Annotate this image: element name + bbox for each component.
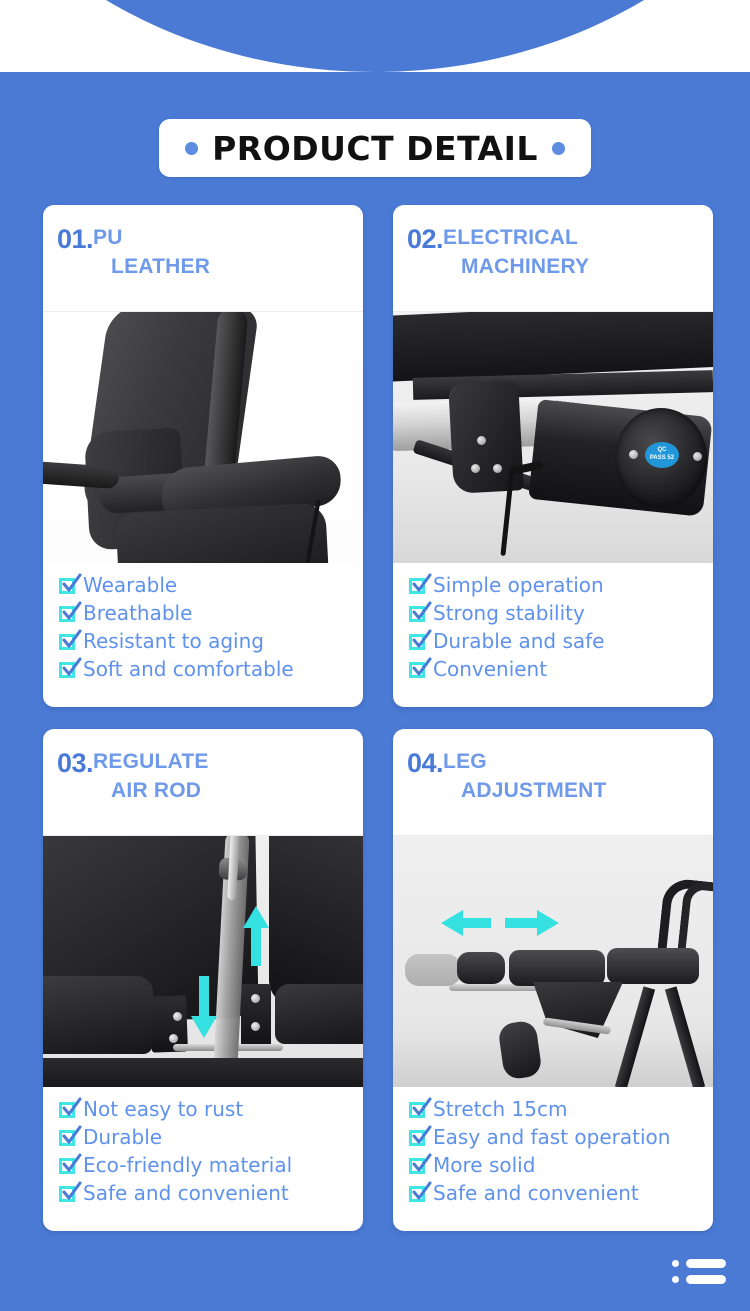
list-item: More solid	[409, 1151, 713, 1179]
detail-card-regulate-air-rod[interactable]: 03. REGULATE AIR ROD	[43, 729, 363, 1231]
feature-list: Stretch 15cm Easy and fast operation Mor…	[393, 1087, 713, 1231]
feature-label: Durable and safe	[433, 631, 604, 651]
card-title-line2: MACHINERY	[443, 253, 589, 282]
list-bullet-icon	[672, 1260, 679, 1267]
check-icon	[59, 1101, 76, 1118]
list-item: Safe and convenient	[409, 1179, 713, 1207]
card-title-line2: ADJUSTMENT	[443, 777, 607, 806]
top-banner	[0, 0, 750, 72]
arrow-down-icon	[189, 976, 219, 1043]
list-item: Easy and fast operation	[409, 1123, 713, 1151]
feature-list: Simple operation Strong stability Durabl…	[393, 563, 713, 707]
feature-label: Stretch 15cm	[433, 1099, 567, 1119]
card-header: 01. PU LEATHER	[43, 205, 363, 311]
feature-list: Wearable Breathable Resistant to aging	[43, 563, 363, 707]
list-bar-icon	[686, 1259, 726, 1268]
list-item: Eco-friendly material	[59, 1151, 363, 1179]
check-icon	[59, 633, 76, 650]
card-number: 03.	[57, 748, 93, 777]
feature-label: Safe and convenient	[433, 1183, 639, 1203]
feature-label: Easy and fast operation	[433, 1127, 670, 1147]
check-icon	[59, 1157, 76, 1174]
feature-label: More solid	[433, 1155, 535, 1175]
check-icon	[409, 1185, 426, 1202]
check-icon	[409, 1129, 426, 1146]
check-icon	[59, 1129, 76, 1146]
list-bullet-icon	[672, 1276, 679, 1283]
detail-card-leg-adjustment[interactable]: 04. LEG ADJUSTMENT	[393, 729, 713, 1231]
card-title-line1: REGULATE	[93, 750, 209, 773]
card-title: REGULATE AIR ROD	[93, 748, 209, 806]
check-icon	[409, 1101, 426, 1118]
bullet-dot-icon-right	[552, 142, 565, 155]
card-title-line1: LEG	[443, 750, 487, 773]
check-icon	[59, 577, 76, 594]
qc-sticker-line2: PASS 52	[650, 455, 674, 461]
list-item: Durable	[59, 1123, 363, 1151]
arrow-left-right-icon	[441, 906, 559, 945]
card-title: ELECTRICAL MACHINERY	[443, 224, 589, 282]
list-item: Resistant to aging	[59, 627, 363, 655]
check-icon	[409, 1157, 426, 1174]
list-item: Simple operation	[409, 571, 713, 599]
feature-list: Not easy to rust Durable Eco-friendly ma…	[43, 1087, 363, 1231]
page-title: PRODUCT DETAIL	[212, 129, 538, 168]
list-item: Durable and safe	[409, 627, 713, 655]
card-photo-electrical-machinery: QC PASS 52	[393, 311, 713, 563]
feature-label: Safe and convenient	[83, 1183, 289, 1203]
check-icon	[409, 661, 426, 678]
card-title-line2: AIR ROD	[93, 777, 209, 806]
card-title: PU LEATHER	[93, 224, 210, 282]
check-icon	[409, 633, 426, 650]
product-detail-page: PRODUCT DETAIL 01. PU LEATHER	[0, 0, 750, 1311]
check-icon	[409, 605, 426, 622]
list-item: Strong stability	[409, 599, 713, 627]
card-header: 03. REGULATE AIR ROD	[43, 729, 363, 835]
photo-illustration: QC PASS 52	[393, 312, 713, 563]
photo-illustration	[393, 836, 713, 1087]
feature-label: Not easy to rust	[83, 1099, 243, 1119]
card-title-line1: ELECTRICAL	[443, 226, 578, 249]
photo-illustration	[43, 312, 363, 563]
card-number: 01.	[57, 224, 93, 253]
check-icon	[409, 577, 426, 594]
feature-label: Eco-friendly material	[83, 1155, 292, 1175]
feature-label: Resistant to aging	[83, 631, 264, 651]
detail-card-electrical-machinery[interactable]: 02. ELECTRICAL MACHINERY QC PASS 52	[393, 205, 713, 707]
list-item: Wearable	[59, 571, 363, 599]
list-icon[interactable]	[672, 1259, 728, 1289]
list-icon-row	[672, 1275, 728, 1284]
feature-label: Soft and comfortable	[83, 659, 294, 679]
qc-sticker-line1: QC	[658, 447, 667, 453]
card-header: 02. ELECTRICAL MACHINERY	[393, 205, 713, 311]
list-item: Breathable	[59, 599, 363, 627]
page-title-pill: PRODUCT DETAIL	[159, 119, 591, 177]
top-curve-shape	[0, 0, 750, 72]
check-icon	[59, 605, 76, 622]
photo-illustration	[43, 836, 363, 1087]
card-number: 02.	[407, 224, 443, 253]
feature-label: Wearable	[83, 575, 177, 595]
card-title-line1: PU	[93, 226, 123, 249]
list-icon-row	[672, 1259, 728, 1268]
card-photo-leg-adjustment	[393, 835, 713, 1087]
detail-card-grid: 01. PU LEATHER Wearable	[43, 205, 707, 1231]
feature-label: Durable	[83, 1127, 162, 1147]
bullet-dot-icon-left	[185, 142, 198, 155]
qc-pass-sticker: QC PASS 52	[645, 442, 679, 468]
list-item: Safe and convenient	[59, 1179, 363, 1207]
card-title: LEG ADJUSTMENT	[443, 748, 607, 806]
list-bar-icon	[686, 1275, 726, 1284]
card-photo-pu-leather	[43, 311, 363, 563]
card-photo-air-rod	[43, 835, 363, 1087]
arrow-up-icon	[241, 906, 271, 971]
list-item: Not easy to rust	[59, 1095, 363, 1123]
feature-label: Convenient	[433, 659, 547, 679]
card-title-line2: LEATHER	[93, 253, 210, 282]
feature-label: Strong stability	[433, 603, 585, 623]
card-header: 04. LEG ADJUSTMENT	[393, 729, 713, 835]
list-item: Soft and comfortable	[59, 655, 363, 683]
card-number: 04.	[407, 748, 443, 777]
detail-card-pu-leather[interactable]: 01. PU LEATHER Wearable	[43, 205, 363, 707]
feature-label: Simple operation	[433, 575, 604, 595]
list-item: Convenient	[409, 655, 713, 683]
list-item: Stretch 15cm	[409, 1095, 713, 1123]
check-icon	[59, 661, 76, 678]
check-icon	[59, 1185, 76, 1202]
feature-label: Breathable	[83, 603, 192, 623]
